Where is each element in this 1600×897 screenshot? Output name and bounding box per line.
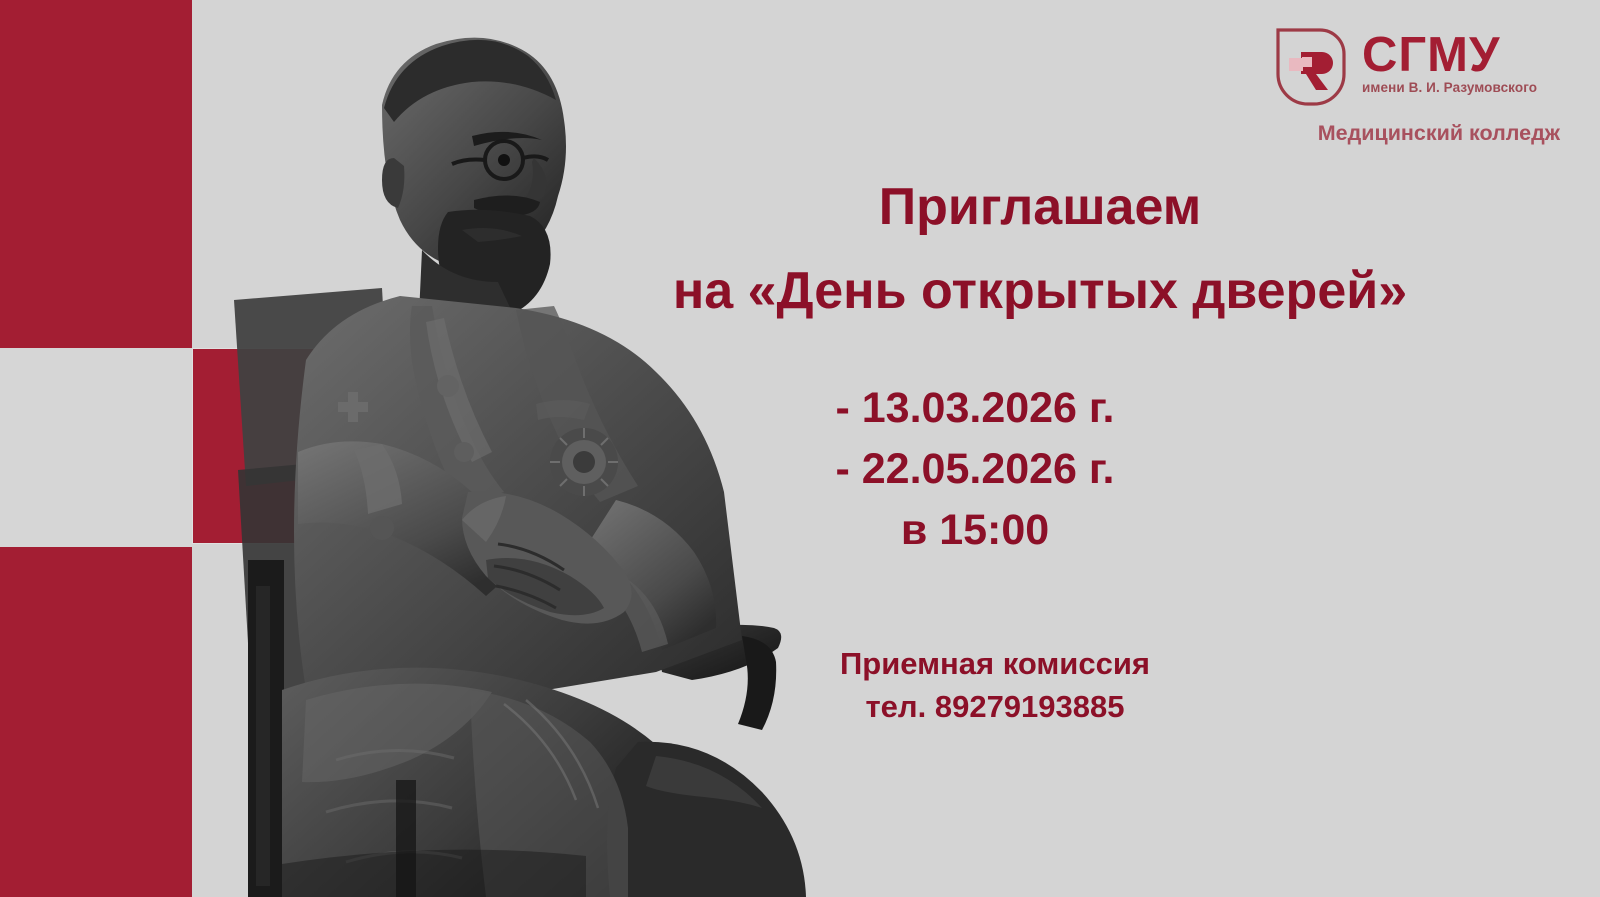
- admissions-phone: тел. 89279193885: [580, 686, 1410, 729]
- headline-line-1: Приглашаем: [580, 178, 1500, 236]
- event-date-second: - 22.05.2026 г.: [580, 439, 1370, 500]
- left-red-band-bottom: [0, 547, 192, 897]
- event-date-first: - 13.03.2026 г.: [580, 378, 1370, 439]
- left-red-band-top: [0, 0, 192, 348]
- announcement-headline: Приглашаем на «День открытых дверей»: [580, 178, 1500, 320]
- headline-line-2: на «День открытых дверей»: [580, 262, 1500, 320]
- contact-info: Приемная комиссия тел. 89279193885: [580, 643, 1410, 729]
- left-band-gray-gap: [0, 348, 192, 547]
- poster-canvas: СГМУ имени В. И. Разумовского Медицински…: [0, 0, 1600, 897]
- admissions-office-label: Приемная комиссия: [580, 643, 1410, 686]
- event-time: в 15:00: [580, 500, 1370, 561]
- announcement-content: Приглашаем на «День открытых дверей» - 1…: [580, 0, 1560, 897]
- event-dates: - 13.03.2026 г. - 22.05.2026 г. в 15:00: [580, 378, 1370, 561]
